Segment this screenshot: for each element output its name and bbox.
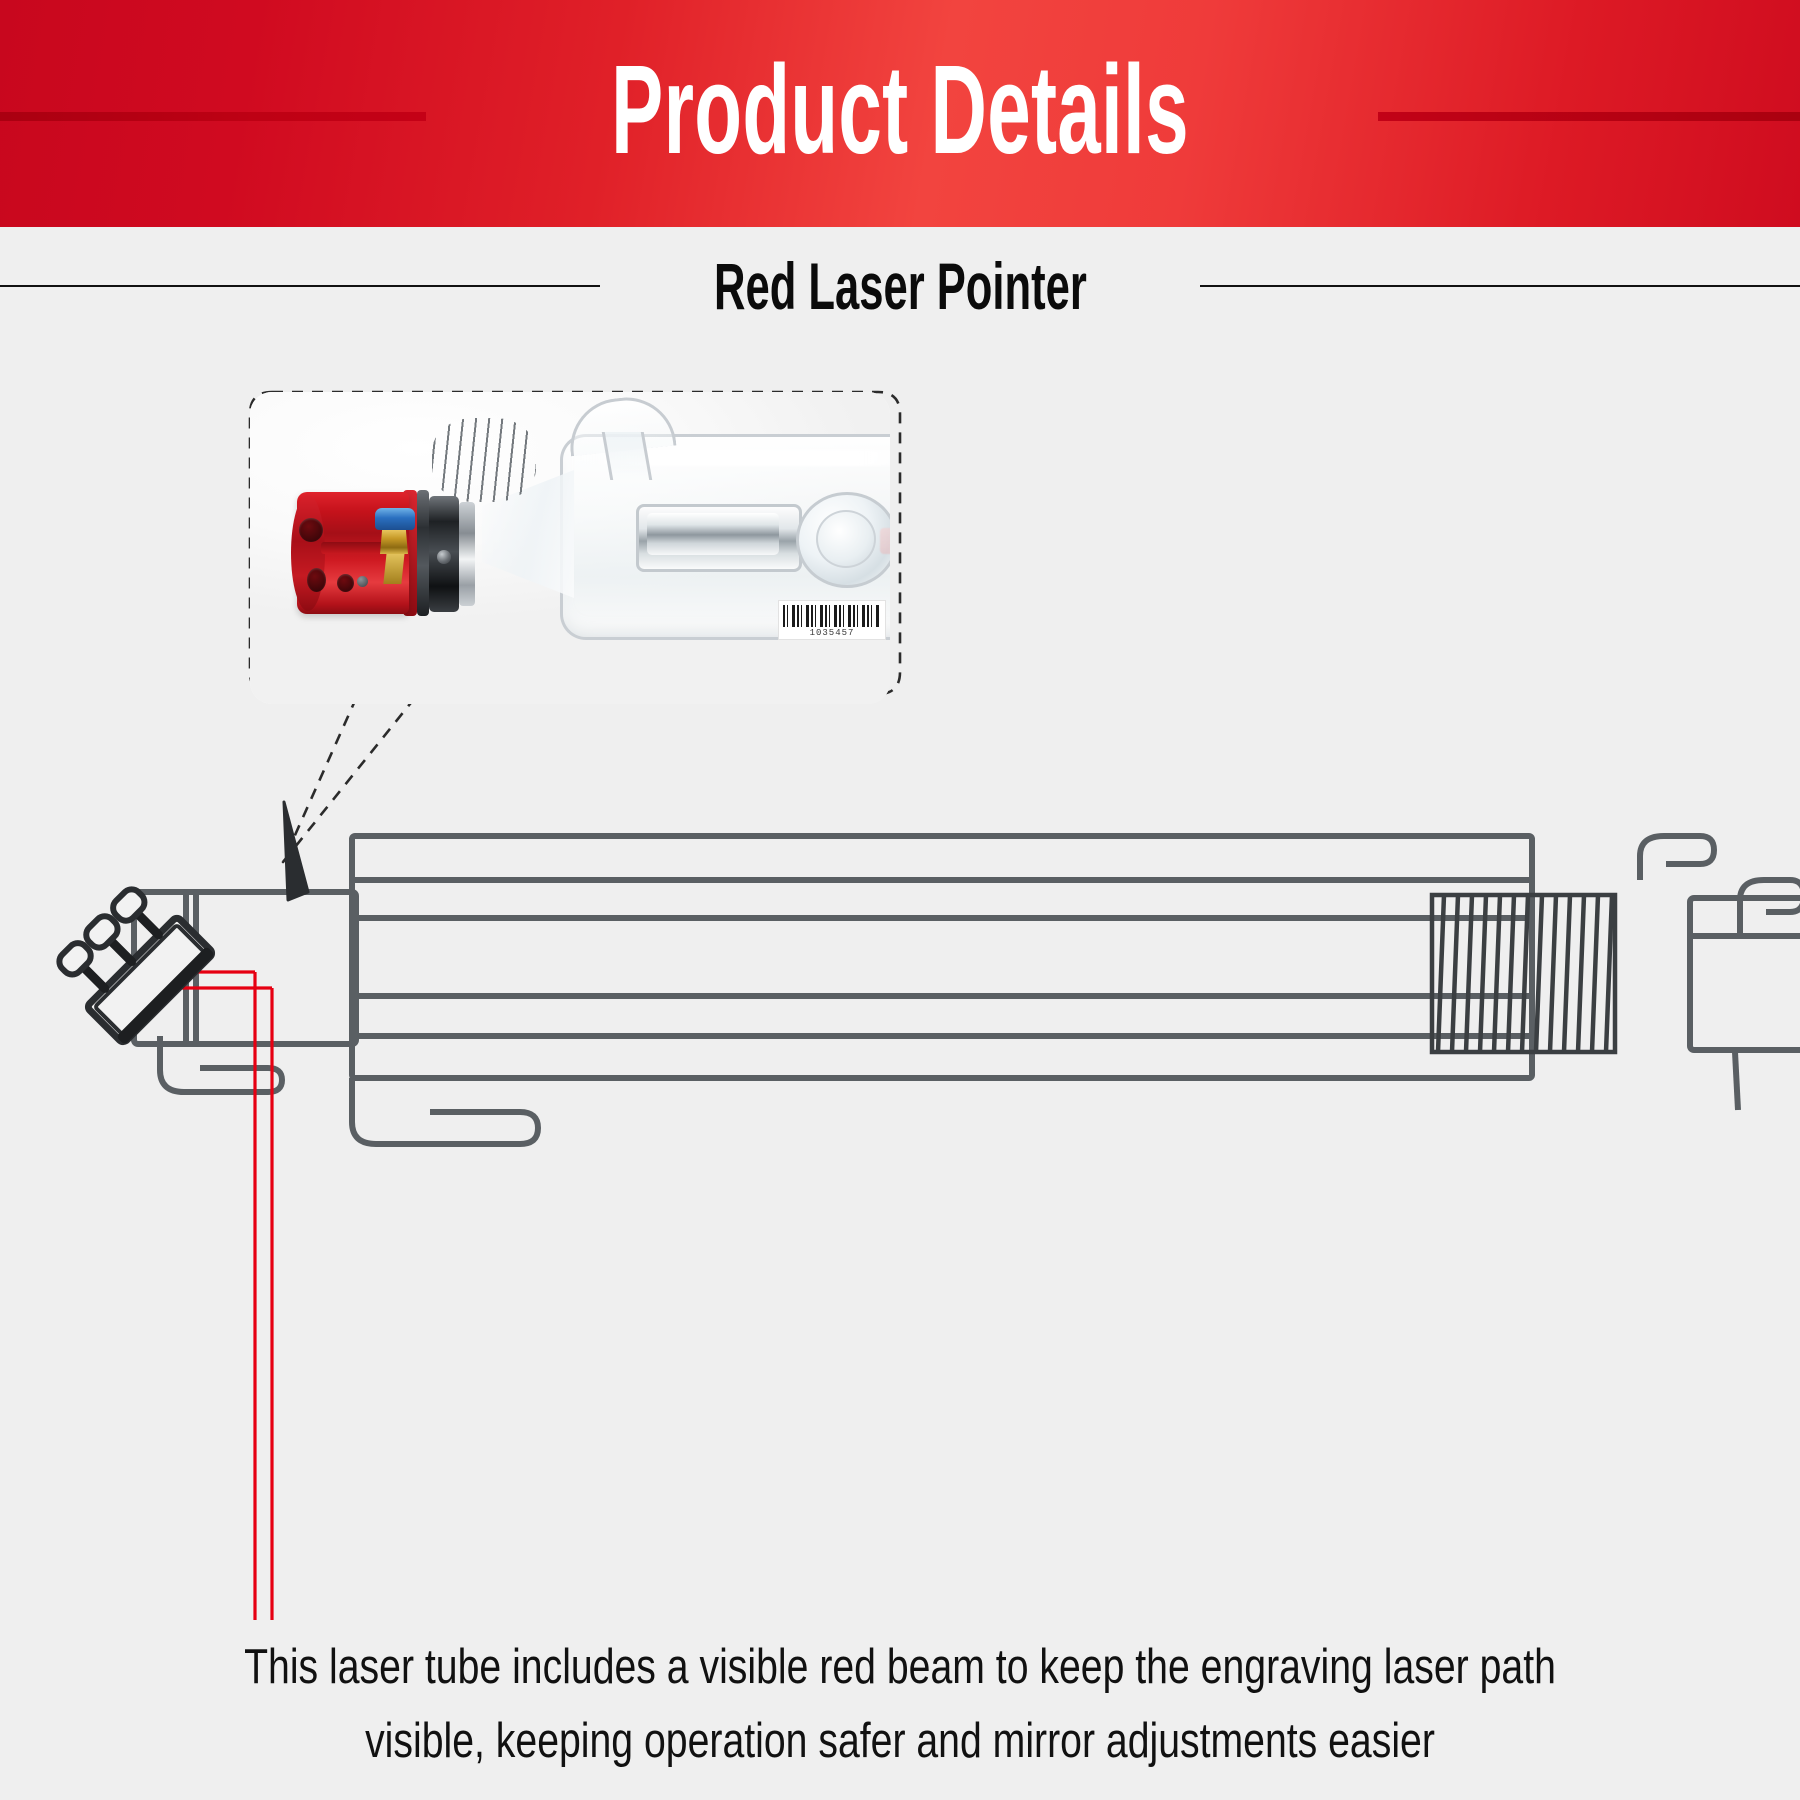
collar-screw [437, 550, 451, 564]
subtitle-divider-right [1200, 285, 1800, 287]
caption-line-2: visible, keeping operation safer and mir… [236, 1704, 1564, 1778]
metal-collar-ring [459, 502, 475, 606]
pneumatic-fitting [367, 508, 421, 600]
tube-pink-reflection [880, 528, 890, 554]
mount-small-hole [337, 574, 354, 592]
mount-bore-hole [299, 518, 323, 542]
laser-tube [134, 802, 1532, 1144]
tube-right-endcap [1640, 836, 1800, 1110]
mirror-1 [48, 878, 215, 1045]
subtitle-divider-left [0, 285, 600, 287]
photo-callout: Water 1035457 [250, 392, 890, 704]
caption-text: This laser tube includes a visible red b… [236, 1630, 1564, 1778]
inner-electrode-metal [647, 513, 779, 555]
metal-spring [432, 418, 536, 502]
header-banner: Product Details [0, 0, 1800, 227]
glass-spout-neck [602, 432, 652, 480]
mount-side-hole [307, 568, 326, 592]
page-title: Product Details [342, 0, 1458, 227]
mount-front-face [291, 495, 325, 611]
barcode-label: 1035457 [778, 600, 886, 640]
fitting-brass-nut [380, 528, 408, 554]
product-detail-page: Product Details Red Laser Pointer Water [0, 0, 1800, 1800]
fitting-blue-cap [375, 508, 415, 530]
barcode-number: 1035457 [783, 627, 881, 639]
callout-photo: Water 1035457 [250, 392, 890, 704]
fitting-stem [383, 552, 404, 584]
barcode-bars [783, 605, 881, 627]
section-subtitle: Red Laser Pointer [702, 253, 1099, 319]
red-pointer-mount [297, 492, 427, 614]
glass-bubble-inner [816, 510, 876, 568]
red-beam-path [135, 972, 1215, 1620]
inner-electrode [636, 504, 802, 572]
section-subtitle-row: Red Laser Pointer [0, 238, 1800, 334]
caption-line-1: This laser tube includes a visible red b… [236, 1630, 1564, 1704]
laser-beam-path-diagram [0, 740, 1800, 1620]
